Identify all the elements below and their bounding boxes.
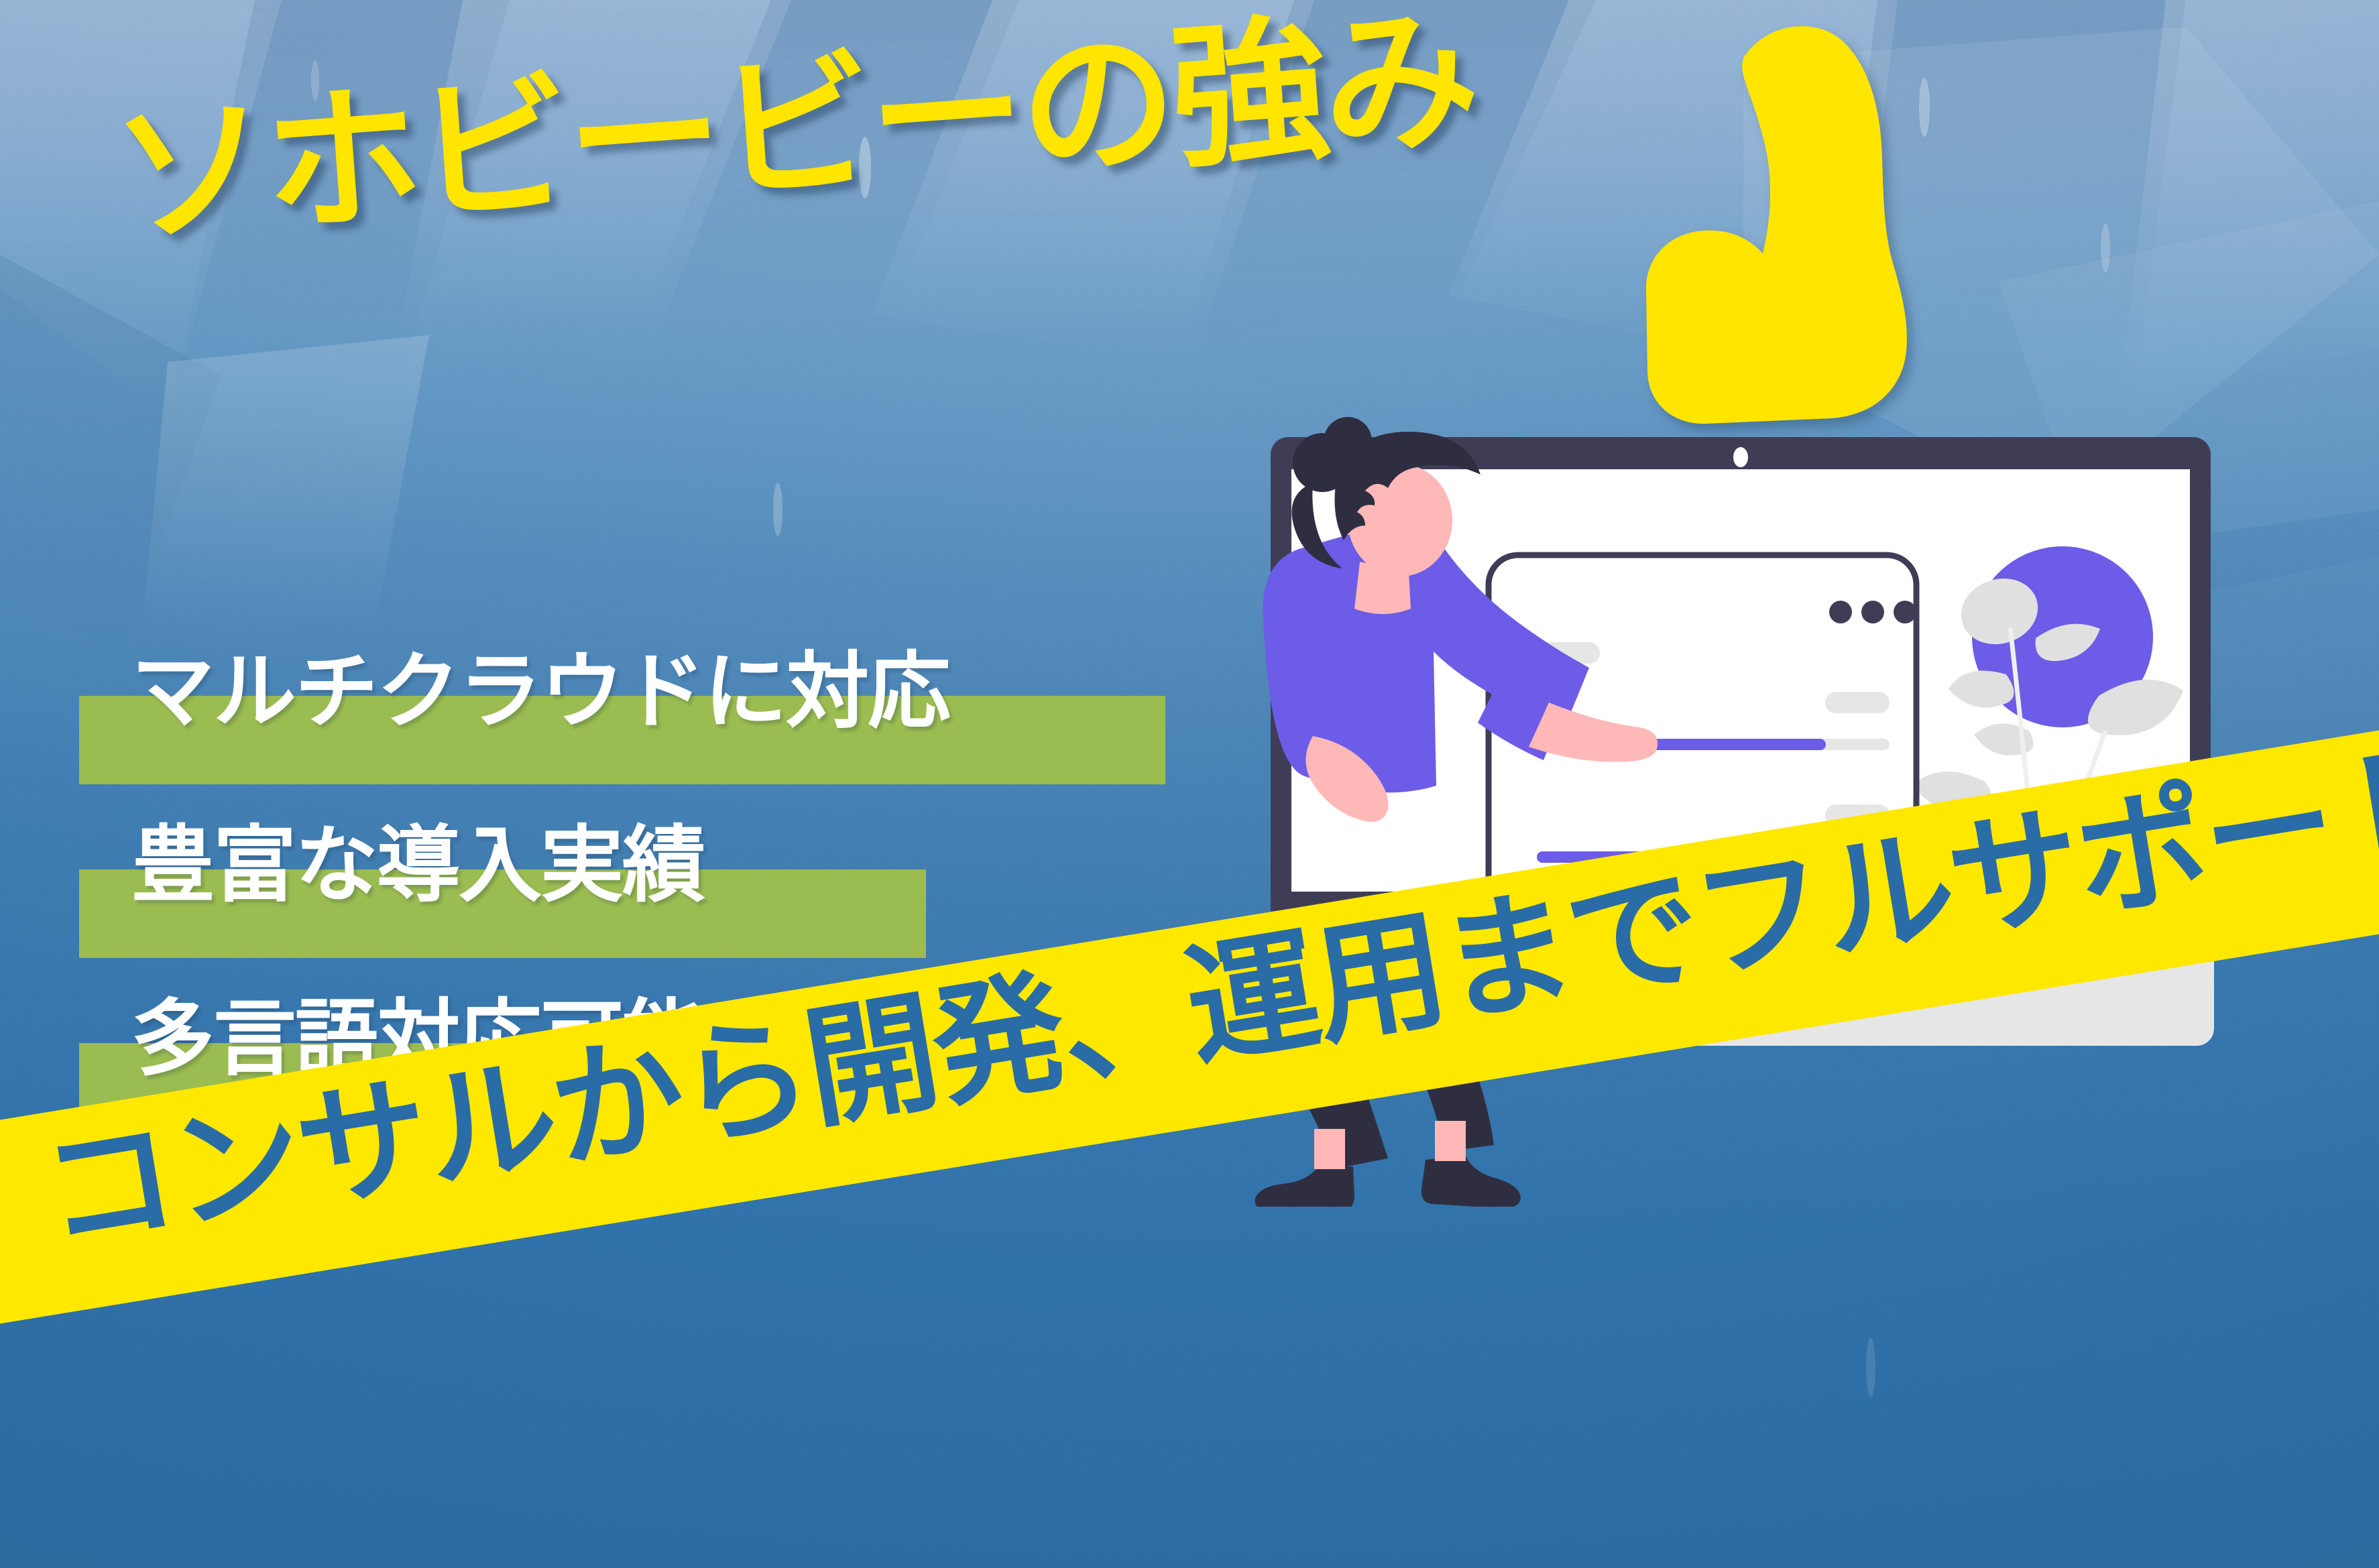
window-controls-icon xyxy=(1829,601,1916,623)
person-shoe-back xyxy=(1255,1166,1354,1207)
feature-box-1: マルチクラウドに対応 xyxy=(79,696,1165,784)
person-shoe-front xyxy=(1421,1156,1521,1207)
ui-placeholder-2 xyxy=(1825,692,1890,713)
webcam-dot-icon xyxy=(1733,447,1748,467)
feature-label-2: 豊富な導入実績 xyxy=(131,824,704,907)
flexed-biceps-icon xyxy=(1606,13,1955,429)
feature-label-1: マルチクラウドに対応 xyxy=(131,650,949,733)
feature-box-2: 豊富な導入実績 xyxy=(79,869,926,958)
